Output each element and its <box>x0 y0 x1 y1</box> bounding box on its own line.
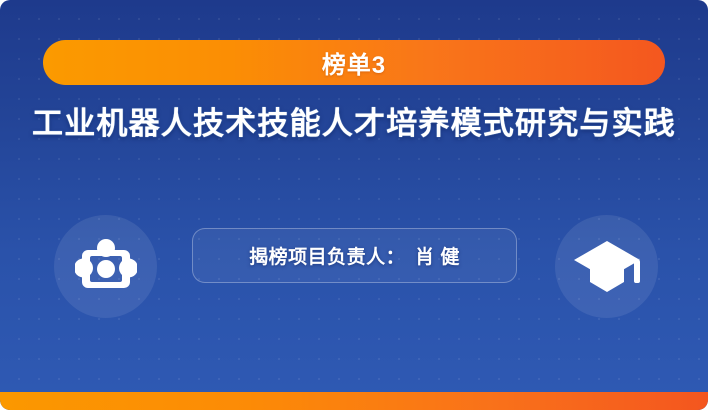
project-banner: 榜单3 工业机器人技术技能人才培养模式研究与实践 揭榜项目负责人： 肖 健 <box>0 0 708 410</box>
rank-badge-label: 榜单3 <box>322 45 386 80</box>
rank-badge: 榜单3 <box>43 40 665 85</box>
page-title: 工业机器人技术技能人才培养模式研究与实践 <box>0 98 708 143</box>
robot-icon-container <box>54 215 157 318</box>
graduation-cap-icon-container <box>555 215 658 318</box>
banner-middle-row: 揭榜项目负责人： 肖 健 <box>0 215 708 325</box>
graduation-cap-icon <box>573 238 641 296</box>
robot-icon <box>75 239 137 295</box>
project-leader-pill: 揭榜项目负责人： 肖 健 <box>192 228 517 283</box>
project-leader-text: 揭榜项目负责人： 肖 健 <box>249 242 460 269</box>
bottom-accent-strip <box>0 392 708 410</box>
